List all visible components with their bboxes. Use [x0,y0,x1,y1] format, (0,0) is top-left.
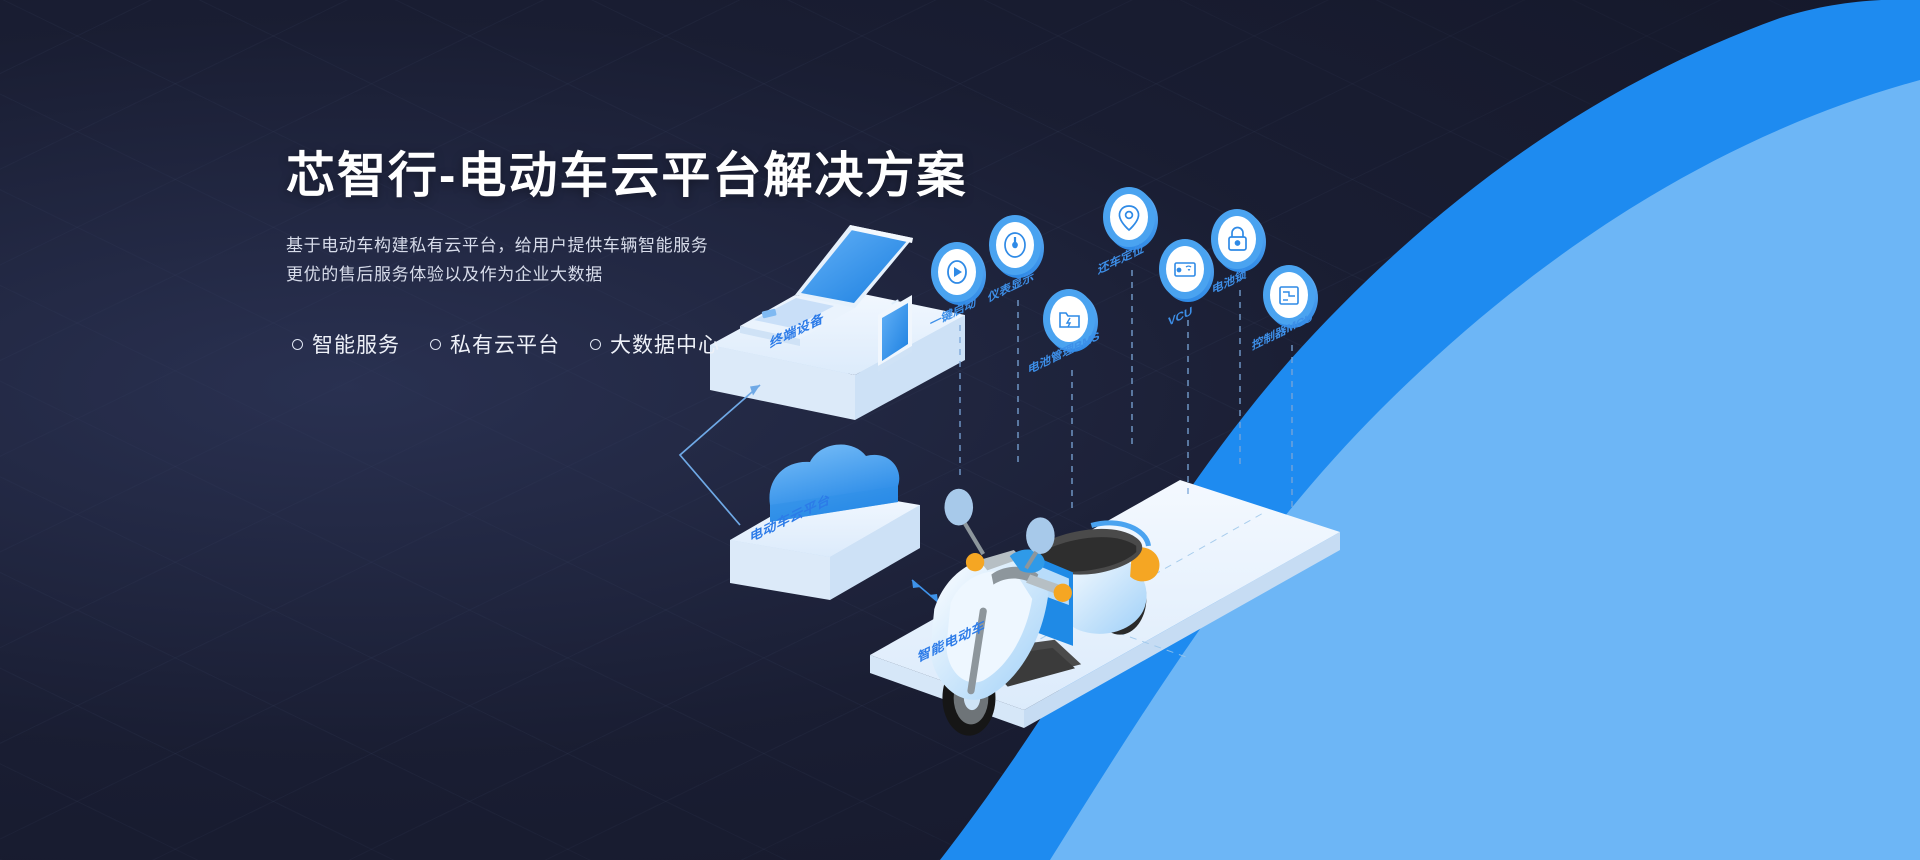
feature-node-label: 电池锁 [1212,265,1247,296]
hero-copy: 芯智行-电动车云平台解决方案 基于电动车构建私有云平台，给用户提供车辆智能服务 … [286,148,966,359]
feature-node-group: 一键启动 仪表显示 [930,187,1318,510]
platform-vehicle: 智能电动车 [868,480,1340,736]
feature-node-mcu[interactable]: 控制器MCU [1252,265,1318,510]
circle-outline-icon [292,339,303,350]
feature-node-vcu[interactable]: VCU [1159,239,1214,495]
feature-node-battery-management[interactable]: 电池管理BMS [1028,289,1100,510]
hero-subcopy: 基于电动车构建私有云平台，给用户提供车辆智能服务 更优的售后服务体验以及作为企业… [286,231,966,289]
bullet-item-big-data-center[interactable]: 大数据中心 [590,329,720,359]
platform-cloud: 电动车云平台 [730,445,938,602]
circle-outline-icon [430,339,441,350]
hero-banner: 终端设备 电动车云平台 [0,0,1920,860]
subcopy-line-1: 基于电动车构建私有云平台，给用户提供车辆智能服务 [286,231,966,260]
page-title: 芯智行-电动车云平台解决方案 [286,148,966,205]
bullet-label: 大数据中心 [610,329,720,359]
bullet-label: 智能服务 [312,329,400,359]
circle-outline-icon [590,339,601,350]
feature-node-location[interactable]: 还车定位 [1097,187,1158,450]
feature-node-label: VCU [1168,304,1192,329]
bullet-item-smart-service[interactable]: 智能服务 [292,329,400,359]
subcopy-line-2: 更优的售后服务体验以及作为企业大数据 [286,260,966,289]
connector-arrow-up [680,385,760,525]
bidirectional-arrow [912,580,938,602]
feature-bullet-list: 智能服务 私有云平台 大数据中心 [286,329,966,359]
bullet-item-private-cloud[interactable]: 私有云平台 [430,329,560,359]
bullet-label: 私有云平台 [450,329,560,359]
feature-node-dashboard[interactable]: 仪表显示 [987,215,1044,465]
